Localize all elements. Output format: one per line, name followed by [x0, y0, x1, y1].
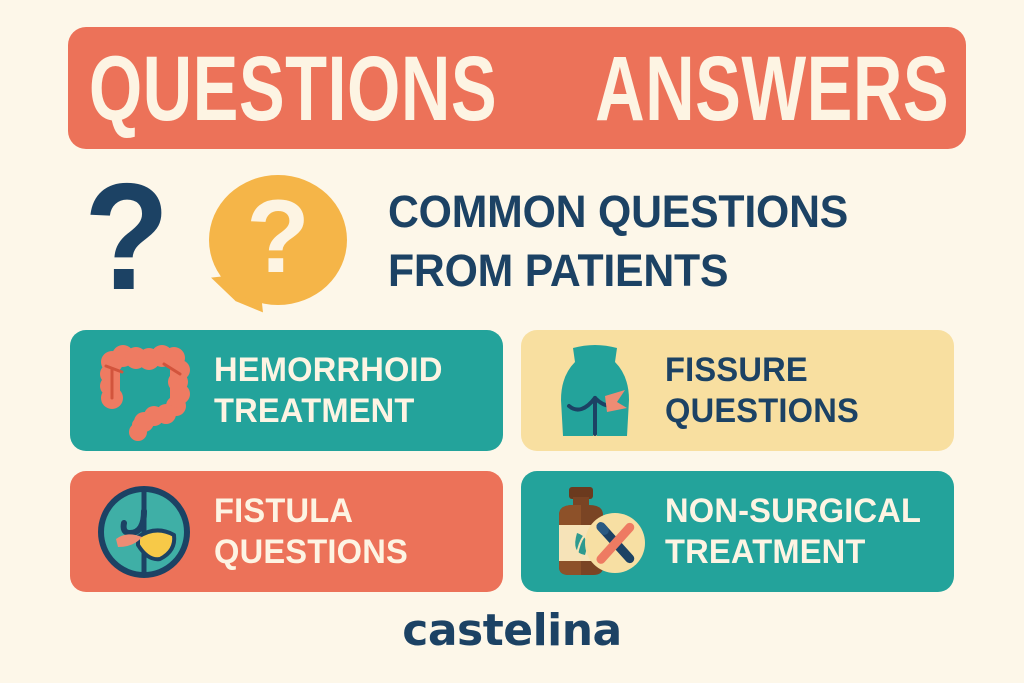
header-word-answers: ANSWERS — [595, 42, 949, 134]
card-label-line-1: HEMORRHOID — [214, 350, 443, 390]
topic-card-grid: HEMORRHOID TREATMENT FISSURE QUESTIONS — [70, 330, 954, 592]
card-label-non-surgical-treatment: NON-SURGICAL TREATMENT — [665, 491, 921, 571]
subtitle-line-1: COMMON QUESTIONS — [388, 183, 920, 242]
card-hemorrhoid-treatment[interactable]: HEMORRHOID TREATMENT — [70, 330, 503, 451]
card-non-surgical-treatment[interactable]: NON-SURGICAL TREATMENT — [521, 471, 954, 592]
card-fistula-questions[interactable]: FISTULA QUESTIONS — [70, 471, 503, 592]
question-mark-cluster: ? ? — [72, 165, 372, 315]
infographic-poster: QUESTIONS ANSWERS ? ? COMMON QUESTIONS F… — [0, 0, 1024, 683]
anal-fissure-anatomy-icon — [543, 340, 647, 442]
card-label-fissure-questions: FISSURE QUESTIONS — [665, 350, 859, 430]
card-label-line-2: QUESTIONS — [214, 532, 408, 572]
subtitle-heading: COMMON QUESTIONS FROM PATIENTS — [388, 183, 920, 301]
question-speech-bubble-icon: ? — [209, 175, 347, 305]
card-label-line-1: NON-SURGICAL — [665, 491, 921, 531]
subtitle-line-2: FROM PATIENTS — [388, 242, 920, 301]
card-label-line-2: TREATMENT — [665, 532, 921, 572]
card-label-line-1: FISSURE — [665, 350, 859, 390]
card-fissure-questions[interactable]: FISSURE QUESTIONS — [521, 330, 954, 451]
question-mark-icon: ? — [84, 161, 169, 313]
card-label-line-2: TREATMENT — [214, 391, 443, 431]
card-label-fistula-questions: FISTULA QUESTIONS — [214, 491, 408, 571]
card-label-line-1: FISTULA — [214, 491, 408, 531]
fistula-cross-section-icon — [92, 481, 196, 583]
card-label-hemorrhoid-treatment: HEMORRHOID TREATMENT — [214, 350, 443, 430]
medicine-bottle-no-scalpel-icon — [543, 481, 647, 583]
header-word-questions: QUESTIONS — [89, 42, 497, 134]
header-banner: QUESTIONS ANSWERS — [68, 27, 966, 149]
speech-bubble-question-mark: ? — [209, 175, 347, 305]
colon-intestine-icon — [92, 340, 196, 442]
card-label-line-2: QUESTIONS — [665, 391, 859, 431]
brand-logo: castelina — [0, 605, 1024, 656]
